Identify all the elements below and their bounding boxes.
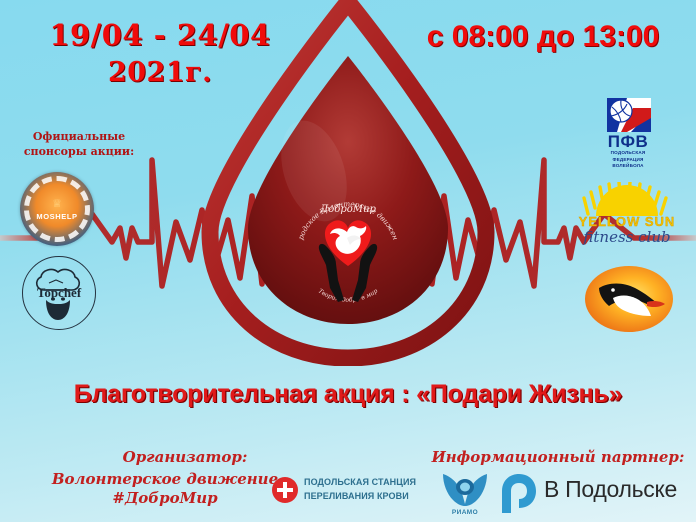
vpodolske-mark-icon xyxy=(499,472,539,514)
date-range: 19/04 - 24/04 xyxy=(30,16,290,55)
partner-label: Информационный партнер: xyxy=(420,448,696,466)
logo-moshelp[interactable]: ♕ MOSHELP xyxy=(20,172,94,246)
logo-vpodolske[interactable]: В Подольске xyxy=(497,470,687,516)
pfv-sub-line1: ПОДОЛЬСКАЯ xyxy=(597,150,659,157)
organizer-name-line2: #ДоброМир xyxy=(20,489,310,508)
emblem-brand-script: ДоброМир xyxy=(319,204,376,215)
yellow-sun-subtitle: fitness club xyxy=(566,228,688,246)
date-block: 19/04 - 24/04 2021г. xyxy=(30,16,290,92)
logo-bird-club[interactable] xyxy=(585,266,673,332)
sun-icon xyxy=(566,182,688,216)
volunteer-emblem: Городское Волонтерское движение Творим д… xyxy=(292,168,404,313)
blood-station-text: ПОДОЛЬСКАЯ СТАНЦИЯ ПЕРЕЛИВАНИЯ КРОВИ xyxy=(304,476,416,504)
crown-icon: ♕ xyxy=(20,199,94,210)
volleyball-icon xyxy=(597,98,659,134)
page-title: Благотворительная акция : «Подари Жизнь» xyxy=(0,380,696,409)
sponsors-label-line2: спонсоры акции: xyxy=(18,145,140,160)
logo-pfv[interactable]: ПФВ ПОДОЛЬСКАЯ ФЕДЕРАЦИЯ ВОЛЕЙБОЛА xyxy=(597,98,659,170)
time-range: с 08:00 до 13:00 xyxy=(398,20,688,54)
riamo-label: РИАМО xyxy=(437,509,493,516)
logo-topchef[interactable]: Topchef xyxy=(22,256,96,330)
logo-blood-station[interactable]: ПОДОЛЬСКАЯ СТАНЦИЯ ПЕРЕЛИВАНИЯ КРОВИ xyxy=(272,474,432,508)
sponsors-label-line1: Официальные xyxy=(18,130,140,145)
svg-text:Творим добро в мир: Творим добро в мир xyxy=(317,287,379,303)
pfv-subtitle: ПОДОЛЬСКАЯ ФЕДЕРАЦИЯ ВОЛЕЙБОЛА xyxy=(597,150,659,170)
logo-riamo[interactable]: РИАМО xyxy=(437,472,493,516)
organizer-label: Организатор: xyxy=(60,448,310,466)
date-year: 2021г. xyxy=(30,55,290,91)
pfv-sub-line3: ВОЛЕЙБОЛА xyxy=(597,163,659,170)
riamo-wings-icon xyxy=(437,472,493,508)
poster-canvas: Городское Волонтерское движение Творим д… xyxy=(0,0,696,522)
logo-yellow-sun[interactable]: YELLOW SUN fitness club xyxy=(566,182,688,252)
flying-bird-icon xyxy=(585,266,673,332)
blood-station-line2: ПЕРЕЛИВАНИЯ КРОВИ xyxy=(304,490,416,504)
topchef-label: Topchef xyxy=(23,285,95,301)
blood-station-line1: ПОДОЛЬСКАЯ СТАНЦИЯ xyxy=(304,476,416,490)
red-cross-icon xyxy=(272,477,298,503)
emblem-arc-bottom-text: Творим добро в мир xyxy=(317,287,379,303)
organizer-name: Волонтерское движение #ДоброМир xyxy=(20,470,310,508)
sponsors-label: Официальные спонсоры акции: xyxy=(18,130,140,160)
pfv-abbr: ПФВ xyxy=(597,132,659,152)
moshelp-label: MOSHELP xyxy=(20,212,94,221)
vpodolske-label: В Подольске xyxy=(544,476,677,503)
organizer-name-line1: Волонтерское движение xyxy=(20,470,310,489)
yellow-sun-title: YELLOW SUN xyxy=(566,214,688,229)
